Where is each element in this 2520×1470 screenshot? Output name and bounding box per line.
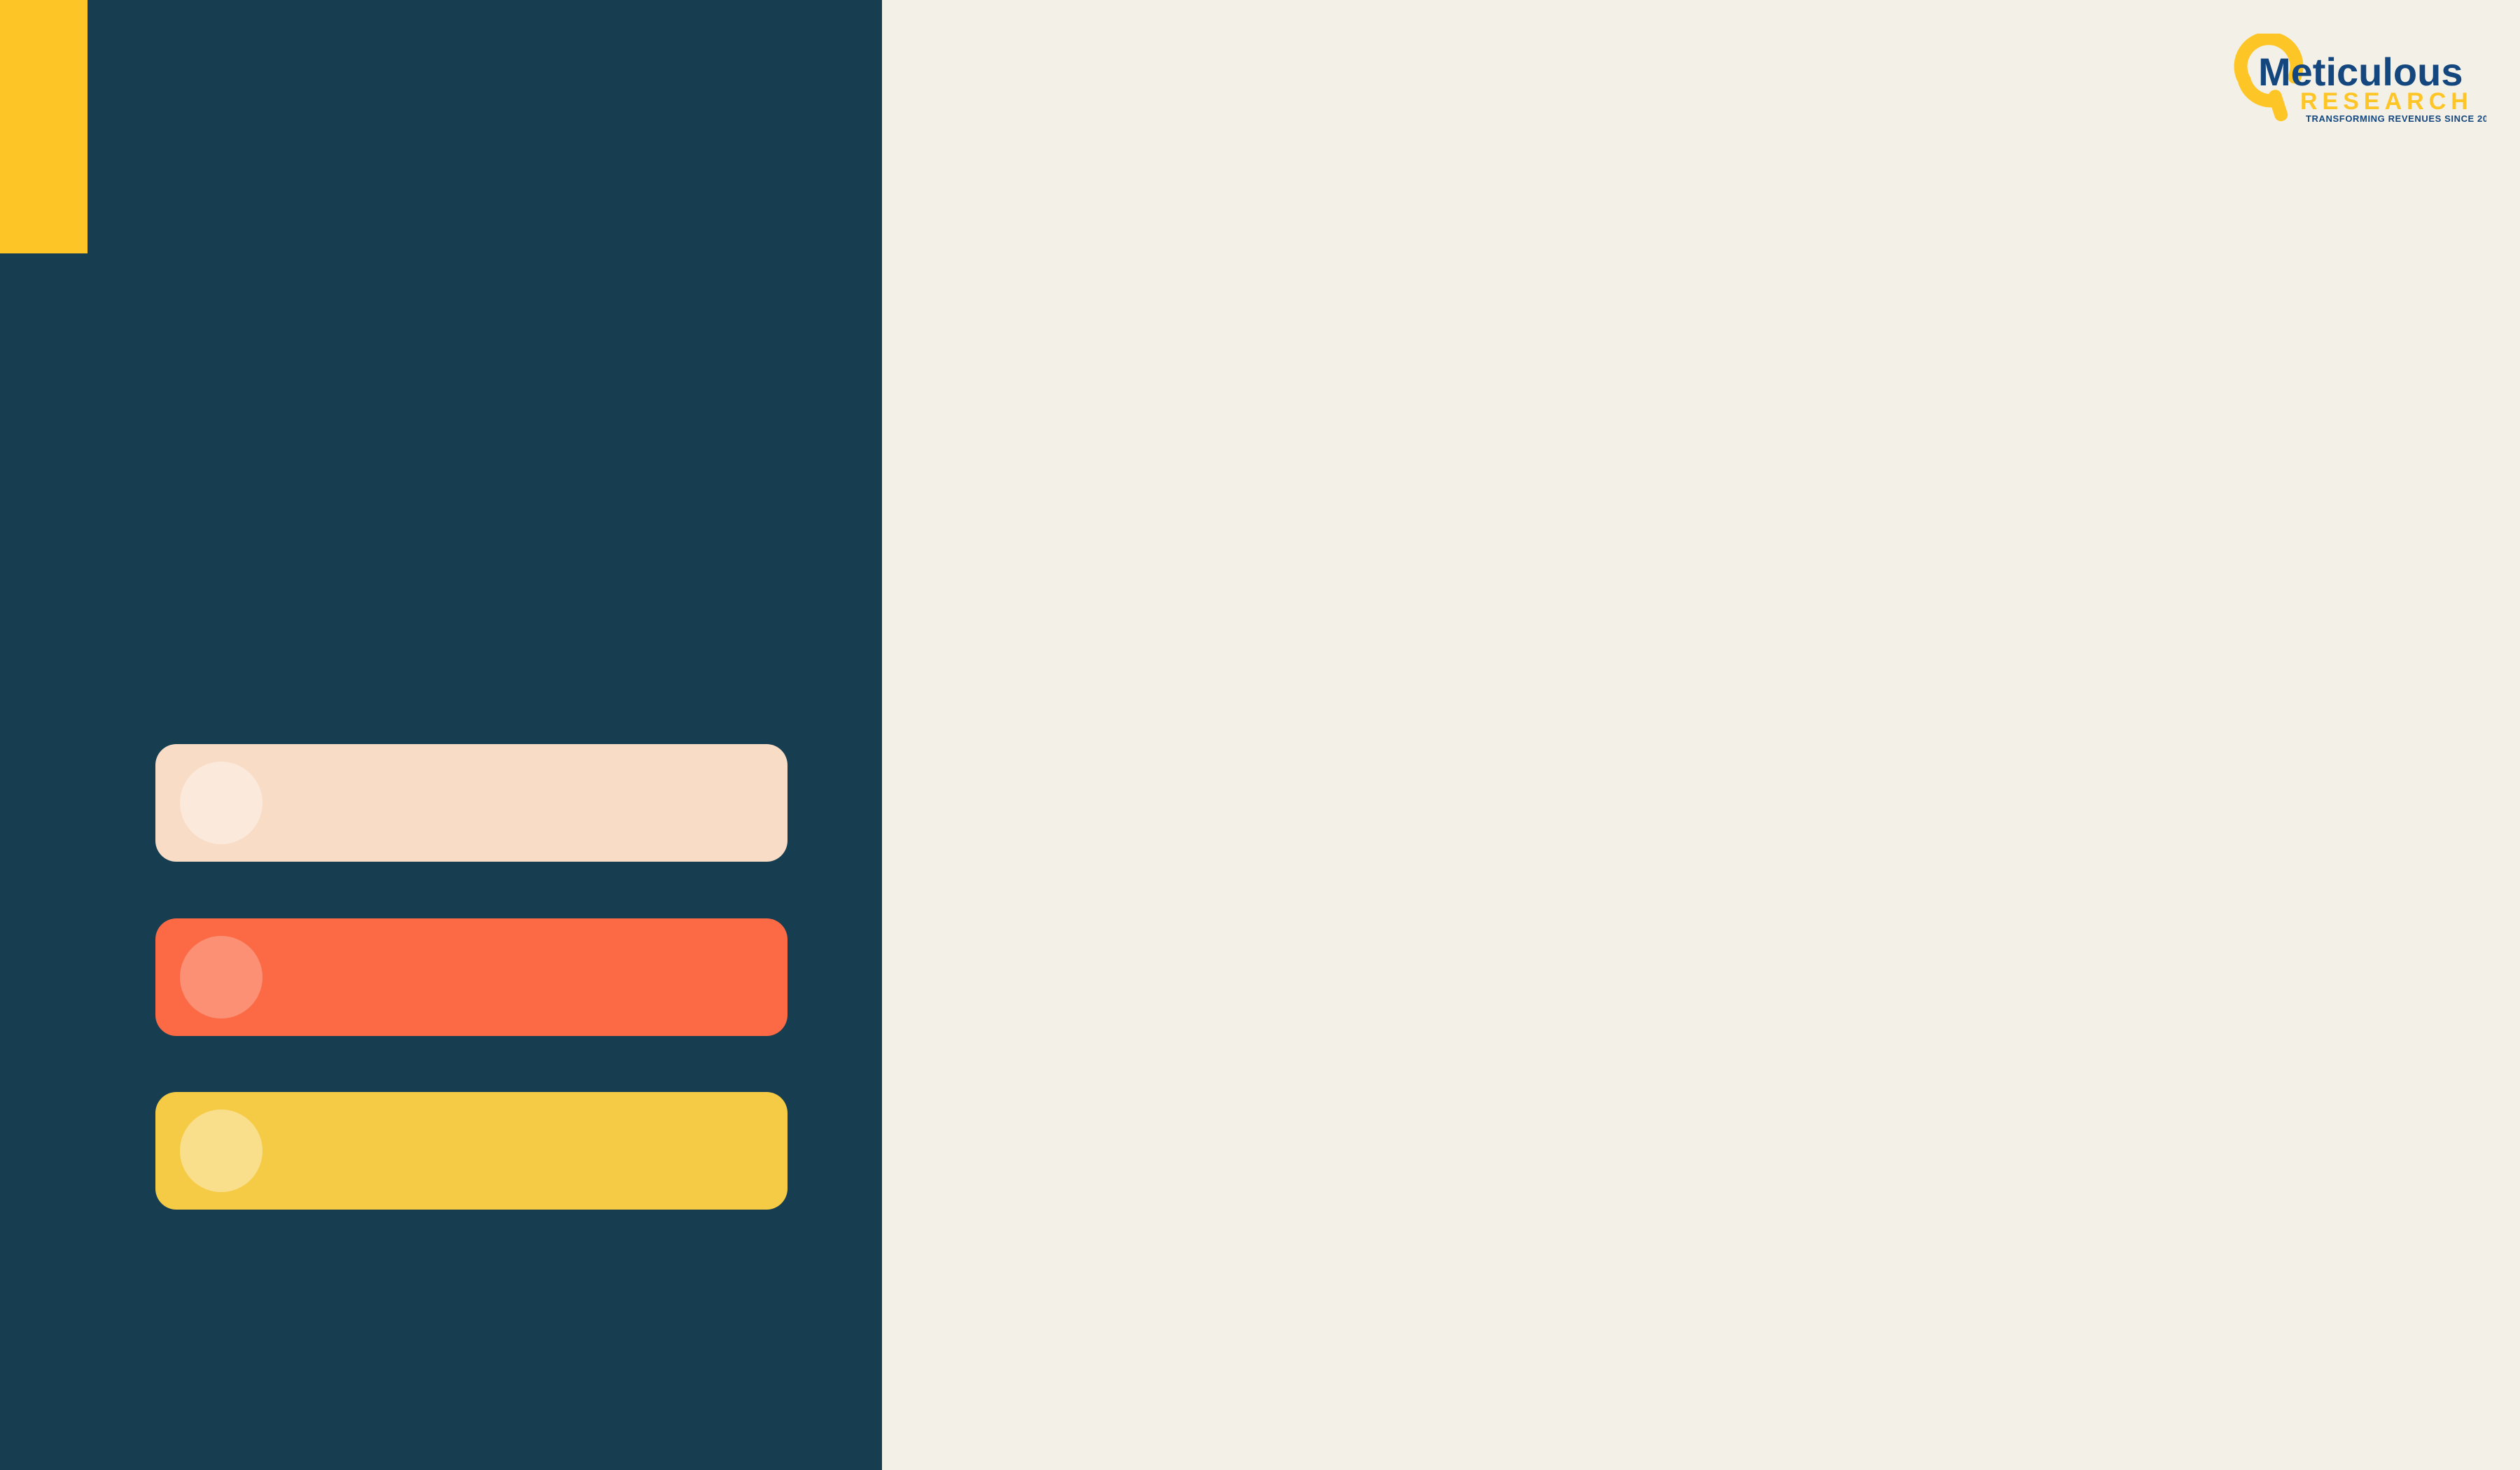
driver-card-03[interactable] [155,1092,787,1210]
driver-card-01[interactable] [155,744,787,862]
meticulous-research-logo: Meticulous RESEARCH TRANSFORMING REVENUE… [2227,34,2486,126]
yellow-accent-bar [0,0,87,253]
driver-number-badge [180,1109,262,1192]
logo-tagline: TRANSFORMING REVENUES SINCE 2010 [2306,113,2486,124]
driver-card-02[interactable] [155,918,787,1036]
market-size-bar-chart [988,889,1618,1211]
logo-word-primary: Meticulous [2258,50,2463,94]
driver-number-badge [180,936,262,1018]
driver-number-badge [180,762,262,844]
left-dark-panel [0,0,882,1470]
logo-word-secondary: RESEARCH [2300,88,2473,115]
